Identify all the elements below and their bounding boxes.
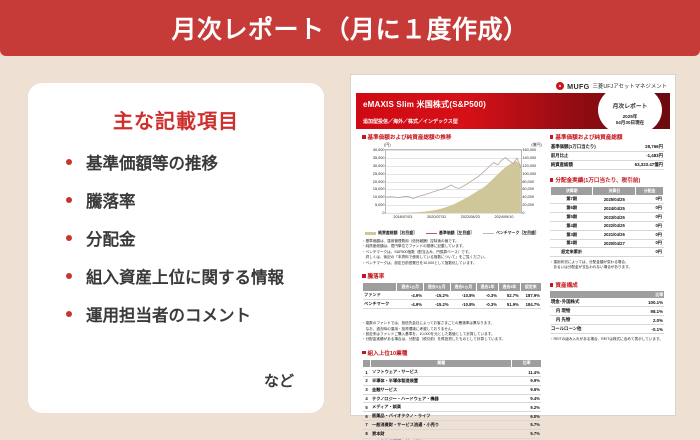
table-row: 1ソフトウェア・サービス11.4% <box>363 368 542 377</box>
performance-section-title: 騰落率 <box>362 272 542 280</box>
page-title: 月次レポート（月に１度作成） <box>171 10 528 46</box>
perf-value: 187.9% <box>520 291 541 300</box>
column-header: 設定来 <box>520 282 541 291</box>
industry-name: ソフトウェア・サービス <box>371 368 512 377</box>
dist-amount: 0円 <box>636 239 664 248</box>
alloc-label: 現金･外国株式 <box>550 298 625 307</box>
table-row: 内 先物2.0% <box>550 316 664 325</box>
chart-y2-tick: 20,000 <box>522 203 534 207</box>
nav-row-label: 純資産総額 <box>550 161 619 170</box>
etc-label: など <box>264 370 294 391</box>
table-row: ファンド-4.9%-15.2%-10.8%-0.3%52.7%187.9% <box>363 291 542 300</box>
table-row: 前月比止-1,483円 <box>550 152 664 161</box>
allocation-value-header: 比率 <box>625 291 664 299</box>
dist-date <box>593 248 636 257</box>
table-row: 第3期2021/04/260円 <box>550 230 663 239</box>
dist-term: 第5期 <box>550 213 593 222</box>
nav-summary-table: 基準価額(1万口当たり)28,766円前月比止-1,483円純資産総額63,32… <box>550 143 664 170</box>
distribution-block: 分配金実績(1万口当たり、税引前) 決算期決算日分配金 第7期2025/04/2… <box>550 176 664 271</box>
table-row: コールローン他-0.1% <box>550 325 664 334</box>
column-header: 過去6ヵ月 <box>450 282 477 291</box>
industry-rank: 3 <box>363 385 371 394</box>
dist-date: 2020/04/27 <box>593 239 636 248</box>
chart-y2-tick: 0 <box>522 211 524 215</box>
column-header: 過去1年 <box>477 282 499 291</box>
badge-date-year: 2025年 <box>623 114 638 119</box>
column-header: 過去3年 <box>498 282 520 291</box>
list-item-label: 分配金 <box>86 226 136 250</box>
nav-row-value: 28,766円 <box>619 143 664 152</box>
nav-row-value: 63,323.47億円 <box>619 161 664 170</box>
chart-y2-tick: 40,000 <box>522 195 534 199</box>
industry-ratio: 9.4% <box>512 394 542 403</box>
badge-date: 2025年 04月30日現在 <box>616 114 645 125</box>
column-header: 分配金 <box>636 187 664 196</box>
allocation-table: 比率 現金･外国株式100.1%内 現物98.1%内 先物2.0%コールローン他… <box>550 291 664 335</box>
column-header <box>363 282 397 291</box>
perf-row-name: ベンチマーク <box>363 300 397 309</box>
table-row: 基準価額(1万口当たり)28,766円 <box>550 143 664 152</box>
allocation-footnote: ・REITの組み入れがある場合、REITは株式に含めて表示しています。 <box>550 337 664 342</box>
chart-y-tick: 20,000 <box>373 180 385 184</box>
perf-value: -4.9% <box>397 300 424 309</box>
main-items-list: 基準価額等の推移騰落率分配金組入資産上位に関する情報運用担当者のコメント <box>66 150 324 326</box>
column-header: 比率 <box>512 359 542 368</box>
chart-y-tick: 40,000 <box>373 148 385 152</box>
chart-legend-item: 基準価額［左目盛］ <box>426 230 474 236</box>
dist-amount: 0円 <box>636 230 664 239</box>
distribution-footnote: ・運用状況によっては、分配金額が変わる場合、 あるいは分配金が支払われない場合が… <box>550 260 664 271</box>
nav-chart: (円) (億円) 005,00020,00010,00040,00015,000… <box>362 143 542 227</box>
industry-rank: 7 <box>363 420 371 429</box>
performance-footnotes: ・複数のファンドでは、投信先会社によってお客さまごとの騰落率は異なります。 なお… <box>362 321 542 343</box>
alloc-value: 98.1% <box>625 307 664 316</box>
industry-rank: 1 <box>363 368 371 377</box>
performance-table: 過去1ヵ月過去3ヵ月過去6ヵ月過去1年過去3年設定来 ファンド-4.9%-15.… <box>362 282 542 309</box>
dist-date: 2023/04/25 <box>593 213 636 222</box>
dist-term: 第6期 <box>550 204 593 213</box>
dist-amount: 0円 <box>636 204 664 213</box>
alloc-label: 内 現物 <box>550 307 625 316</box>
industry-ratio: 5.7% <box>512 420 542 429</box>
document-right-column: 基準価額および純資産総額 基準価額(1万口当たり)28,766円前月比止-1,4… <box>550 133 664 440</box>
chart-y-tick: 15,000 <box>373 187 385 191</box>
legend-label: ベンチマーク［左目盛］ <box>496 230 539 236</box>
chart-y2-tick: 160,000 <box>522 148 536 152</box>
table-row: 4テクノロジー・ハードウェア・機器9.4% <box>363 394 542 403</box>
perf-value: 51.9% <box>498 300 520 309</box>
allocation-block: 資産構成 比率 現金･外国株式100.1%内 現物98.1%内 先物2.0%コー… <box>550 281 664 343</box>
mufg-circle-icon <box>556 82 564 90</box>
chart-y-unit: (円) <box>384 142 391 148</box>
bullet-dot-icon <box>66 197 72 203</box>
dist-term: 第3期 <box>550 230 593 239</box>
table-row: 7一般消費財・サービス流通・小売り5.7% <box>363 420 542 429</box>
industry-block: 組入上位10業種 業種比率 1ソフトウェア・サービス11.4%2半導体・半導体製… <box>362 349 542 440</box>
chart-y-tick: 30,000 <box>373 164 385 168</box>
alloc-value: 2.0% <box>625 316 664 325</box>
industry-ratio: 5.7% <box>512 429 542 438</box>
chart-y-tick: 0 <box>382 211 384 215</box>
dist-amount: 0円 <box>636 213 664 222</box>
chart-y2-tick: 100,000 <box>522 172 536 176</box>
industry-name: テクノロジー・ハードウェア・機器 <box>371 394 512 403</box>
list-item-label: 騰落率 <box>86 188 136 212</box>
chart-section-title: 基準価額および純資産総額の推移 <box>362 133 542 141</box>
page-root: 月次レポート（月に１度作成） 主な記載項目 基準価額等の推移騰落率分配金組入資産… <box>0 0 700 440</box>
industry-ratio: 11.4% <box>512 368 542 377</box>
chart-y2-tick: 120,000 <box>522 164 536 168</box>
bullet-dot-icon <box>66 273 72 279</box>
bullet-dot-icon <box>66 159 72 165</box>
legend-swatch-icon <box>483 233 494 234</box>
chart-y-tick: 10,000 <box>373 195 385 199</box>
main-items-title: 主な記載項目 <box>28 105 324 134</box>
chart-y-tick: 25,000 <box>373 172 385 176</box>
nav-section-title: 基準価額および純資産総額 <box>550 133 664 141</box>
nav-row-label: 前月比止 <box>550 152 619 161</box>
list-item-label: 基準価額等の推移 <box>86 150 218 174</box>
industry-ratio: 9.2% <box>512 403 542 412</box>
industry-rank: 4 <box>363 394 371 403</box>
brand-row: MUFG 三菱UFJアセットマネジメント <box>356 80 670 92</box>
document-header-bar: eMAXIS Slim 米国株式(S&P500) 追加型投信／海外／株式／インデ… <box>356 93 670 129</box>
table-row: 設定来累計0円 <box>550 248 663 257</box>
industry-rank: 8 <box>363 429 371 438</box>
perf-value: 52.7% <box>498 291 520 300</box>
dist-amount: 0円 <box>636 248 664 257</box>
dist-term: 第4期 <box>550 221 593 230</box>
perf-value: -4.9% <box>397 291 424 300</box>
chart-plot-area: 005,00020,00010,00040,00015,00060,00020,… <box>385 149 522 214</box>
industry-ratio: 6.0% <box>512 412 542 421</box>
table-row: 第7期2025/04/250円 <box>550 195 663 204</box>
alloc-label: コールローン他 <box>550 325 625 334</box>
bullet-dot-icon <box>66 311 72 317</box>
column-header: 業種 <box>371 359 512 368</box>
industry-rank: 2 <box>363 377 371 386</box>
perf-value: -10.8% <box>450 300 477 309</box>
main-items-card: 主な記載項目 基準価額等の推移騰落率分配金組入資産上位に関する情報運用担当者のコ… <box>28 83 324 413</box>
alloc-label: 内 先物 <box>550 316 625 325</box>
dist-term: 第7期 <box>550 195 593 204</box>
brand-word: MUFG <box>567 82 589 91</box>
industry-name: 資本財 <box>371 429 512 438</box>
column-header: 決算日 <box>593 187 636 196</box>
industry-name: 医薬品・バイオテクノ・ライフ <box>371 412 512 421</box>
chart-y2-tick: 80,000 <box>522 180 534 184</box>
badge-date-day: 04月30日現在 <box>616 120 645 125</box>
chart-footnotes: ・基準価額は、運用管理費用（信託報酬）控除後の値です。・純資産総額は、億円単位で… <box>362 239 542 266</box>
chart-legend: 純資産総額［右目盛］基準価額［左目盛］ベンチマーク［左目盛］ <box>362 230 542 236</box>
perf-value: -0.3% <box>477 300 499 309</box>
table-row: 現金･外国株式100.1% <box>550 298 664 307</box>
dist-date: 2025/04/25 <box>593 195 636 204</box>
fund-name: eMAXIS Slim 米国株式(S&P500) <box>363 99 486 110</box>
column-header: 過去3ヵ月 <box>423 282 450 291</box>
chart-legend-item: 純資産総額［右目盛］ <box>365 230 417 236</box>
industry-ratio: 9.6% <box>512 385 542 394</box>
table-row: 3金融サービス9.6% <box>363 385 542 394</box>
table-row: 第6期2024/04/250円 <box>550 204 663 213</box>
table-row: 第2期2020/04/270円 <box>550 239 663 248</box>
chart-x-tick: 2024/09/10 <box>495 215 514 219</box>
chart-y2-tick: 60,000 <box>522 187 534 191</box>
dist-amount: 0円 <box>636 221 664 230</box>
list-item-label: 組入資産上位に関する情報 <box>86 264 284 288</box>
document-left-column: 基準価額および純資産総額の推移 (円) (億円) 005,00020,00010… <box>362 133 542 440</box>
bullet-dot-icon <box>66 235 72 241</box>
industry-ratio: 9.9% <box>512 377 542 386</box>
chart-legend-item: ベンチマーク［左目盛］ <box>483 230 539 236</box>
industry-table: 業種比率 1ソフトウェア・サービス11.4%2半導体・半導体製造装置9.9%3金… <box>362 359 542 440</box>
page-header-banner: 月次レポート（月に１度作成） <box>0 0 700 56</box>
chart-y-tick: 5,000 <box>375 203 385 207</box>
chart-y2-tick: 140,000 <box>522 156 536 160</box>
document-page: MUFG 三菱UFJアセットマネジメント eMAXIS Slim 米国株式(S&… <box>356 80 670 410</box>
legend-label: 純資産総額［右目盛］ <box>378 230 417 236</box>
list-item: 運用担当者のコメント <box>66 302 324 326</box>
chart-x-tick: 2022/08/23 <box>461 215 480 219</box>
chart-y-tick: 35,000 <box>373 156 385 160</box>
table-row: 純資産総額63,323.47億円 <box>550 161 664 170</box>
dist-term: 第2期 <box>550 239 593 248</box>
chart-series-svg <box>386 150 521 213</box>
chart-x-tick: 2018/07/03 <box>393 215 412 219</box>
performance-block: 騰落率 過去1ヵ月過去3ヵ月過去6ヵ月過去1年過去3年設定来 ファンド-4.9%… <box>362 272 542 343</box>
perf-value: -15.2% <box>423 300 450 309</box>
table-row: 5メディア・娯楽9.2% <box>363 403 542 412</box>
dist-date: 2021/04/26 <box>593 230 636 239</box>
list-item: 組入資産上位に関する情報 <box>66 264 324 288</box>
document-body: 基準価額および純資産総額の推移 (円) (億円) 005,00020,00010… <box>356 129 670 440</box>
industry-name: 半導体・半導体製造装置 <box>371 377 512 386</box>
table-row: 第5期2023/04/250円 <box>550 213 663 222</box>
dist-date: 2022/04/25 <box>593 221 636 230</box>
column-header: 過去1ヵ月 <box>397 282 424 291</box>
alloc-value: -0.1% <box>625 325 664 334</box>
allocation-section-title: 資産構成 <box>550 281 664 289</box>
industry-name: 一般消費財・サービス流通・小売り <box>371 420 512 429</box>
nav-row-label: 基準価額(1万口当たり) <box>550 143 619 152</box>
perf-row-name: ファンド <box>363 291 397 300</box>
industry-name: 金融サービス <box>371 385 512 394</box>
distribution-table: 決算期決算日分配金 第7期2025/04/250円第6期2024/04/250円… <box>550 186 664 257</box>
table-row: 2半導体・半導体製造装置9.9% <box>363 377 542 386</box>
industry-rank: 6 <box>363 412 371 421</box>
perf-value: 184.7% <box>520 300 541 309</box>
column-header <box>363 359 371 368</box>
table-row: 第4期2022/04/250円 <box>550 221 663 230</box>
table-row: 内 現物98.1% <box>550 307 664 316</box>
perf-value: -0.3% <box>477 291 499 300</box>
perf-value: -10.8% <box>450 291 477 300</box>
monthly-report-document[interactable]: MUFG 三菱UFJアセットマネジメント eMAXIS Slim 米国株式(S&… <box>350 74 676 416</box>
distribution-section-title: 分配金実績(1万口当たり、税引前) <box>550 176 664 184</box>
list-item-label: 運用担当者のコメント <box>86 302 251 326</box>
list-item: 騰落率 <box>66 188 324 212</box>
alloc-value: 100.1% <box>625 298 664 307</box>
nav-row-value: -1,483円 <box>619 152 664 161</box>
dist-term: 設定来累計 <box>550 248 593 257</box>
list-item: 基準価額等の推移 <box>66 150 324 174</box>
column-header: 決算期 <box>550 187 593 196</box>
list-item: 分配金 <box>66 226 324 250</box>
dist-amount: 0円 <box>636 195 664 204</box>
brand-jp-name: 三菱UFJアセットマネジメント <box>593 82 667 90</box>
perf-value: -15.2% <box>423 291 450 300</box>
legend-swatch-icon <box>365 232 376 235</box>
table-row: 6医薬品・バイオテクノ・ライフ6.0% <box>363 412 542 421</box>
badge-title: 月次レポート <box>613 101 648 110</box>
fund-type: 追加型投信／海外／株式／インデックス型 <box>363 118 458 125</box>
table-row: ベンチマーク-4.9%-15.2%-10.8%-0.3%51.9%184.7% <box>363 300 542 309</box>
report-date-badge: 月次レポート 2025年 04月30日現在 <box>598 93 662 129</box>
industry-name: メディア・娯楽 <box>371 403 512 412</box>
legend-label: 基準価額［左目盛］ <box>439 230 474 236</box>
industry-section-title: 組入上位10業種 <box>362 349 542 357</box>
legend-swatch-icon <box>426 233 437 234</box>
chart-x-tick: 2020/07/31 <box>427 215 446 219</box>
industry-rank: 5 <box>363 403 371 412</box>
dist-date: 2024/04/25 <box>593 204 636 213</box>
table-row: 8資本財5.7% <box>363 429 542 438</box>
